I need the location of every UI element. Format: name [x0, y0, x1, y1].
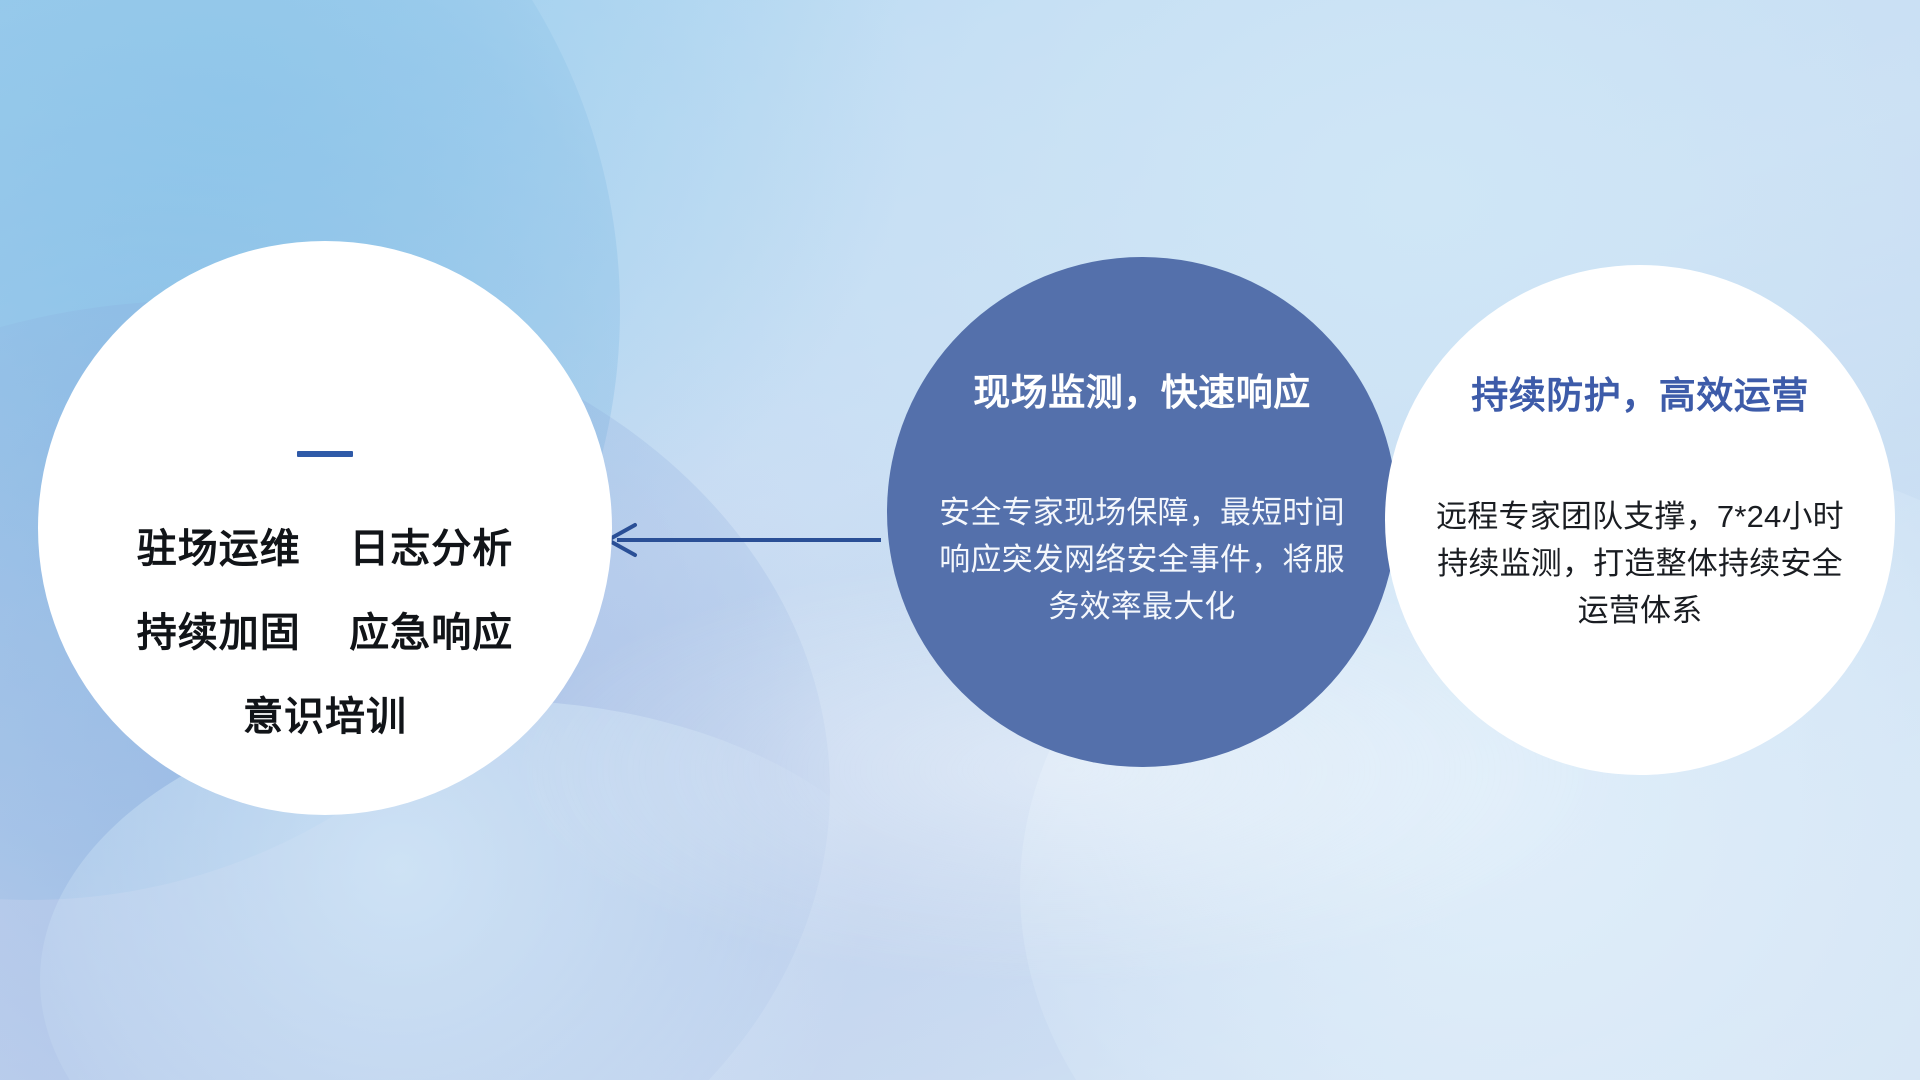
- right-circle-body: 远程专家团队支撑，7*24小时持续监测，打造整体持续安全运营体系: [1427, 493, 1853, 634]
- left-circle-content: 驻场运维 日志分析 持续加固 应急响应 意识培训: [38, 451, 612, 737]
- right-circle-title: 持续防护，高效运营: [1385, 365, 1895, 419]
- middle-circle-body: 安全专家现场保障，最短时间响应突发网络安全事件，将服务效率最大化: [939, 489, 1345, 630]
- left-circle-line-2: 持续加固 应急响应: [38, 613, 612, 653]
- divider-dash-icon: [297, 451, 353, 457]
- arrow-left-icon: [608, 525, 881, 555]
- left-circle-line-3: 意识培训: [38, 697, 612, 737]
- right-remote-circle: 持续防护，高效运营 远程专家团队支撑，7*24小时持续监测，打造整体持续安全运营…: [1385, 265, 1895, 775]
- left-service-circle: 驻场运维 日志分析 持续加固 应急响应 意识培训: [38, 241, 612, 815]
- left-circle-line-1: 驻场运维 日志分析: [38, 529, 612, 569]
- middle-onsite-circle: 现场监测，快速响应 安全专家现场保障，最短时间响应突发网络安全事件，将服务效率最…: [887, 257, 1397, 767]
- connector-arrow: [595, 515, 885, 565]
- middle-circle-title: 现场监测，快速响应: [887, 362, 1397, 416]
- slide-canvas: 驻场运维 日志分析 持续加固 应急响应 意识培训 现场监测，快速响应 安全专家现…: [0, 0, 1920, 1080]
